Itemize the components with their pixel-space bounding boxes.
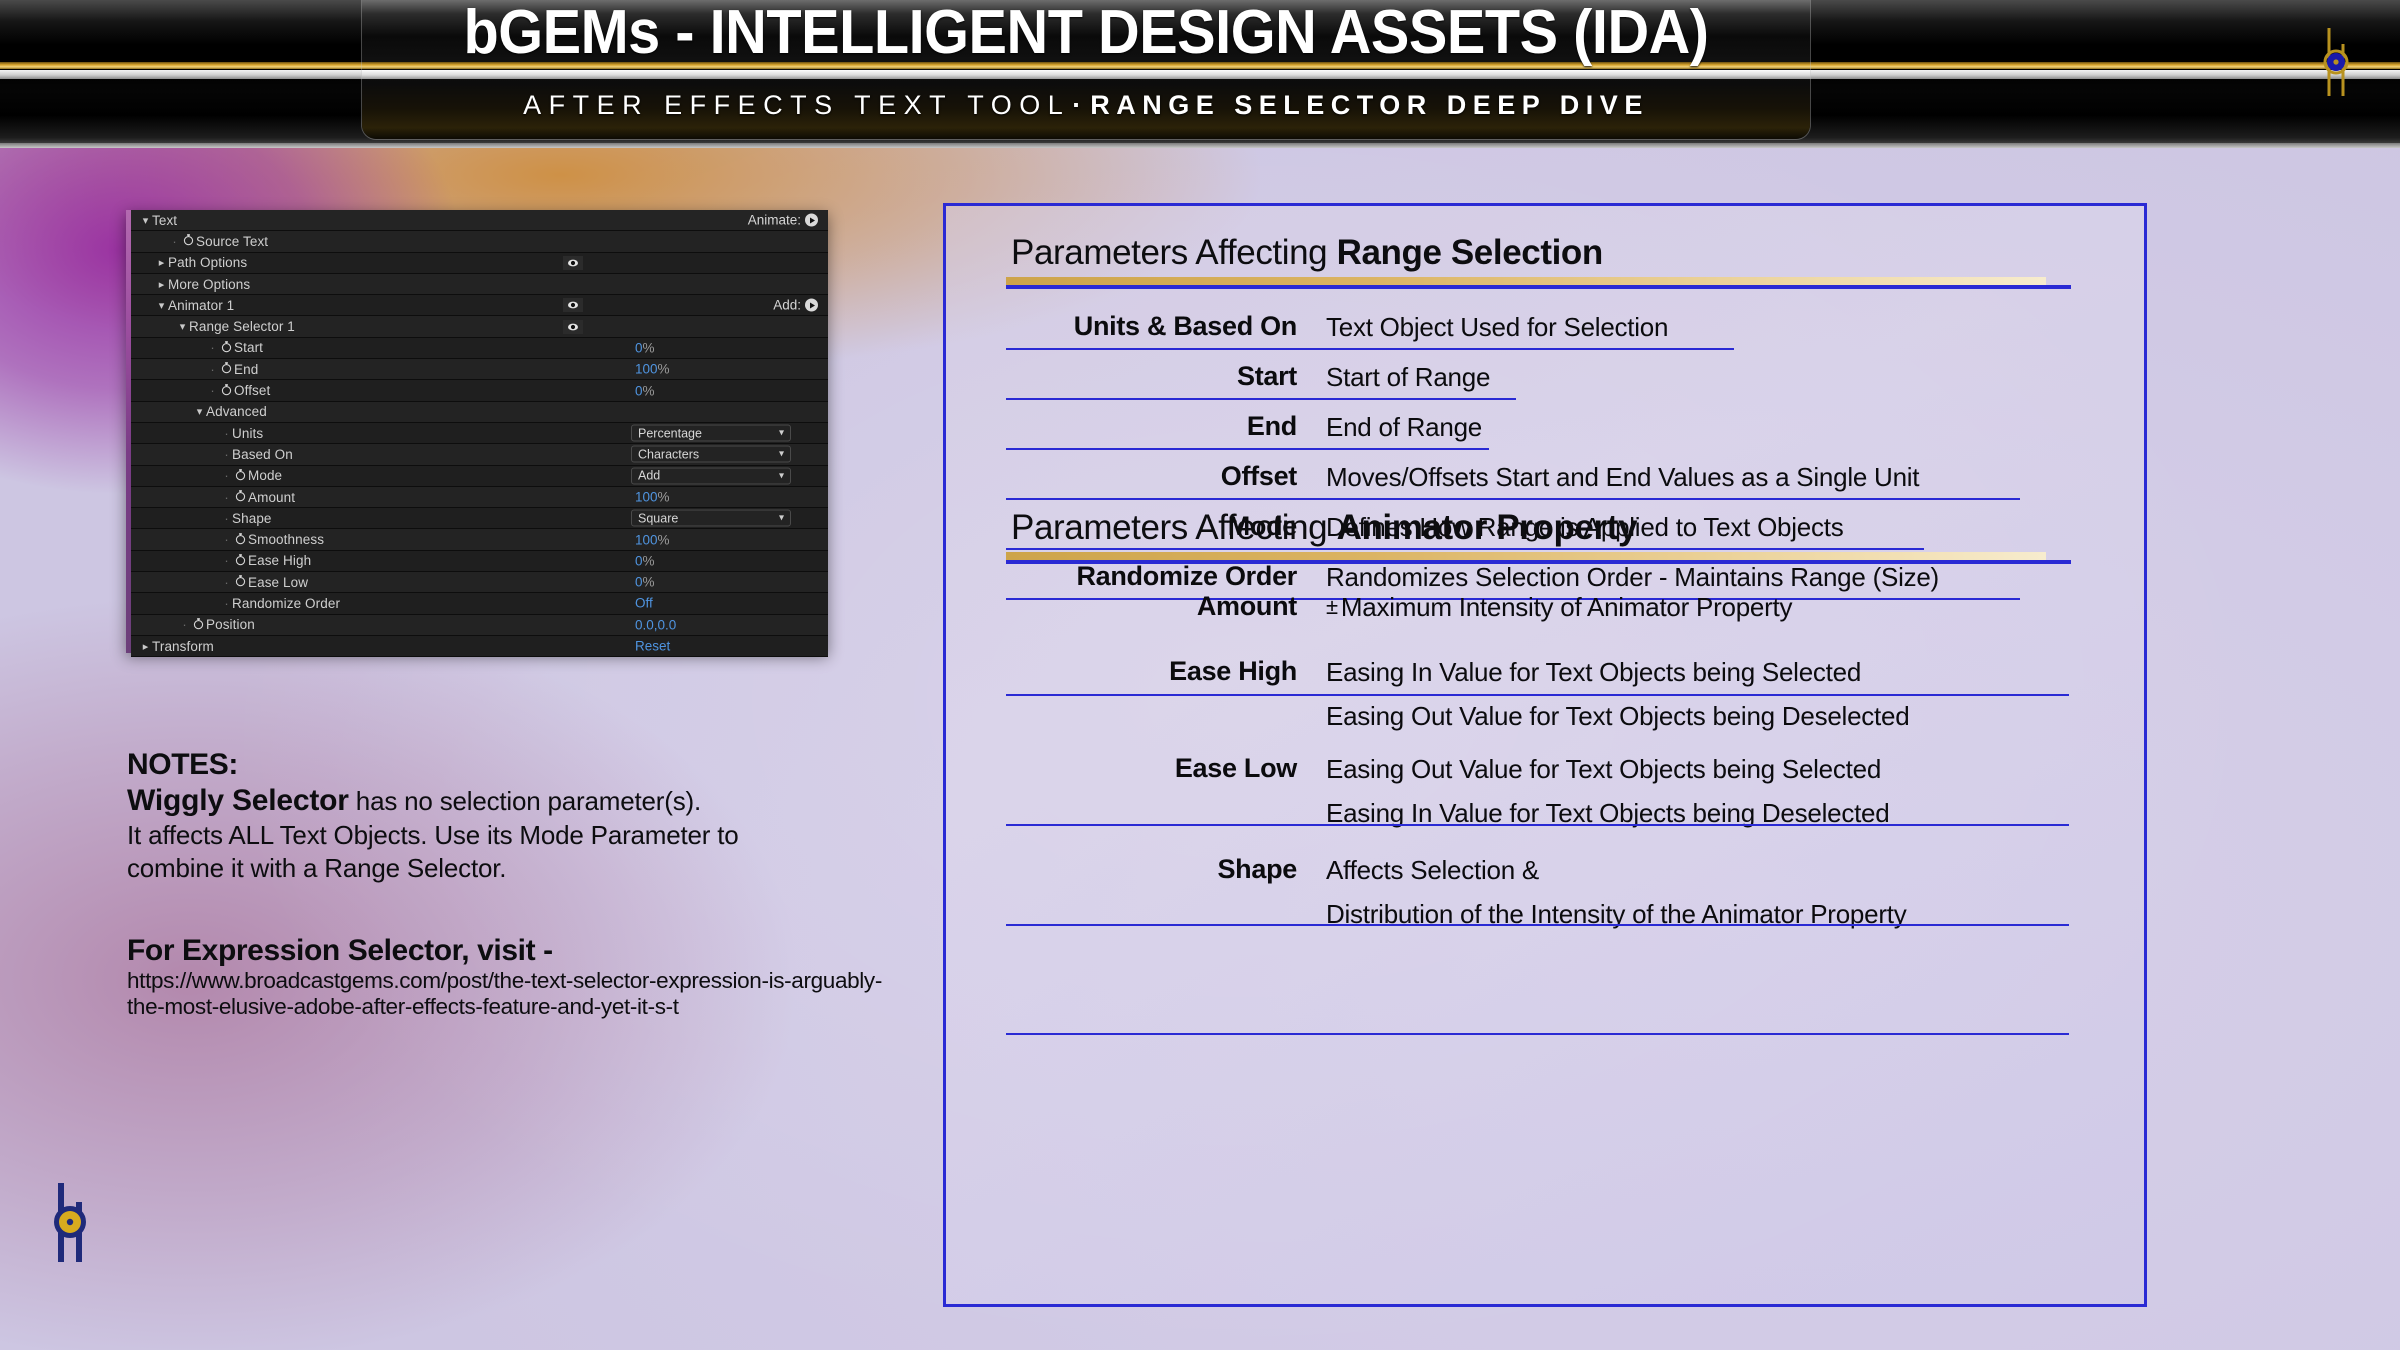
- row-bullet-icon: ·: [169, 234, 180, 249]
- row-underline: [1006, 348, 1734, 350]
- property-row-list: ▾TextAnimate:·Source Text▸Path Options▸M…: [131, 210, 828, 657]
- ae-property-label: Path Options: [168, 255, 247, 270]
- ae-dropdown-value: Add: [638, 469, 660, 483]
- ae-property-label: Advanced: [206, 404, 267, 419]
- row-underline: [1006, 1033, 2069, 1035]
- notes-url-link[interactable]: https://www.broadcastgems.com/post/the-t…: [127, 968, 887, 1021]
- ae-property-label: Mode: [248, 468, 282, 483]
- row-bullet-icon: ·: [221, 426, 232, 441]
- ae-property-row[interactable]: ·UnitsPercentage▾: [131, 423, 828, 444]
- ae-property-value[interactable]: Off: [635, 596, 653, 611]
- parameter-description: Easing Out Value for Text Objects being …: [1326, 753, 1889, 831]
- parameter-name: Ease High: [1006, 656, 1297, 687]
- header-bar: bGEMs - INTELLIGENT DESIGN ASSETS (IDA) …: [0, 0, 2400, 148]
- ae-property-row[interactable]: ▾Animator 1Add:: [131, 295, 828, 316]
- row-bullet-icon: ·: [221, 468, 232, 483]
- chevron-down-icon[interactable]: ▾: [779, 428, 784, 439]
- ae-property-label: Randomize Order: [232, 596, 340, 611]
- parameters-card: Parameters Affecting Range SelectionUnit…: [943, 203, 2147, 1307]
- parameter-name: Units & Based On: [1006, 311, 1297, 342]
- gold-rule: [1006, 277, 2046, 285]
- ae-property-label: Ease High: [248, 553, 311, 568]
- section-heading-normal: Parameters Affecting: [1011, 508, 1337, 547]
- chevron-down-icon[interactable]: ▾: [139, 214, 152, 227]
- ae-property-label: Amount: [248, 490, 295, 505]
- row-bullet-icon: ·: [221, 490, 232, 505]
- ae-dropdown[interactable]: Percentage▾: [631, 425, 791, 442]
- ae-property-value[interactable]: 0%: [635, 553, 655, 568]
- row-underline: [1006, 694, 2069, 696]
- row-bullet-icon: ·: [207, 383, 218, 398]
- chevron-down-icon[interactable]: ▾: [779, 470, 784, 481]
- gold-rule: [1006, 552, 2046, 560]
- ae-property-label: Transform: [152, 639, 214, 654]
- subtitle-primary: AFTER EFFECTS TEXT TOOL: [523, 90, 1070, 121]
- stopwatch-icon[interactable]: [234, 468, 247, 481]
- animate-label: Animate:: [748, 213, 801, 228]
- ae-property-row[interactable]: ·Randomize OrderOff: [131, 593, 828, 614]
- ae-dropdown-value: Characters: [638, 447, 699, 461]
- row-bullet-icon: ·: [221, 511, 232, 526]
- section-heading-normal: Parameters Affecting: [1011, 233, 1337, 272]
- plate-white-stripe: [362, 70, 1810, 79]
- notes-line-1: Wiggly Selector has no selection paramet…: [127, 782, 887, 820]
- parameter-name: Randomize Order: [1006, 561, 1297, 592]
- add-control[interactable]: Add:: [773, 298, 818, 313]
- notes-heading: NOTES:: [127, 748, 887, 782]
- stopwatch-icon[interactable]: [234, 574, 247, 587]
- chevron-down-icon[interactable]: ▾: [779, 449, 784, 460]
- ae-property-label: Position: [206, 617, 255, 632]
- section-heading-bold: Animator Property: [1337, 508, 1637, 547]
- ae-property-label: Text: [152, 213, 177, 228]
- ae-property-label: Start: [234, 340, 263, 355]
- chevron-down-icon[interactable]: ▾: [193, 405, 206, 418]
- notes-line-3: combine it with a Range Selector.: [127, 852, 887, 885]
- parameter-row: OffsetMoves/Offsets Start and End Values…: [1006, 461, 2069, 509]
- stopwatch-icon[interactable]: [220, 361, 233, 374]
- row-bullet-icon: ·: [221, 553, 232, 568]
- ae-property-row[interactable]: ▾TextAnimate:: [131, 210, 828, 231]
- stopwatch-icon[interactable]: [234, 553, 247, 566]
- parameter-row: EndEnd of Range: [1006, 411, 2069, 459]
- ae-property-value[interactable]: 0.0,0.0: [635, 617, 676, 632]
- parameter-name: Shape: [1006, 854, 1297, 885]
- row-bullet-icon: ·: [221, 532, 232, 547]
- ae-property-label: Source Text: [196, 234, 268, 249]
- parameter-name: Ease Low: [1006, 753, 1297, 784]
- stopwatch-icon[interactable]: [234, 532, 247, 545]
- ae-property-row[interactable]: ▸TransformReset: [131, 636, 828, 657]
- section-heading-2: Parameters Affecting Animator Property: [1011, 508, 1637, 548]
- section-rule-2: [1006, 552, 2071, 564]
- stopwatch-icon[interactable]: [220, 340, 233, 353]
- blue-rule: [1006, 560, 2071, 564]
- ae-property-value[interactable]: Reset: [635, 639, 670, 654]
- parameter-name: Amount: [1006, 591, 1297, 622]
- parameter-description-line: Easing Out Value for Text Objects being …: [1326, 753, 1889, 786]
- notes-block: NOTES: Wiggly Selector has no selection …: [127, 748, 887, 1021]
- stopwatch-icon[interactable]: [234, 489, 247, 502]
- parameter-description: Randomizes Selection Order - Maintains R…: [1326, 561, 1939, 594]
- row-underline: [1006, 924, 2069, 926]
- row-underline: [1006, 824, 2069, 826]
- parameter-description: End of Range: [1326, 411, 1482, 444]
- row-bullet-icon: ·: [221, 447, 232, 462]
- ae-property-row[interactable]: ▾Advanced: [131, 402, 828, 423]
- ae-property-label: Units: [232, 426, 263, 441]
- ae-property-row[interactable]: ·Ease High0%: [131, 551, 828, 572]
- ae-property-row[interactable]: ·Based OnCharacters▾: [131, 444, 828, 465]
- chevron-right-icon[interactable]: ▸: [139, 640, 152, 653]
- chevron-down-icon[interactable]: ▾: [176, 320, 189, 333]
- subtitle-secondary: RANGE SELECTOR DEEP DIVE: [1090, 90, 1649, 121]
- parameter-description: ±Maximum Intensity of Animator Property: [1326, 591, 1792, 624]
- chevron-right-icon[interactable]: ▸: [155, 278, 168, 291]
- ae-property-label: Based On: [232, 447, 293, 462]
- page-subtitle: AFTER EFFECTS TEXT TOOL · RANGE SELECTOR…: [362, 82, 1810, 128]
- parameter-name: Offset: [1006, 461, 1297, 492]
- row-bullet-icon: ·: [221, 596, 232, 611]
- row-underline: [1006, 398, 1516, 400]
- parameter-description: Start of Range: [1326, 361, 1490, 394]
- ae-dropdown-value: Square: [638, 511, 678, 525]
- parameter-name: Start: [1006, 361, 1297, 392]
- row-bullet-icon: ·: [221, 575, 232, 590]
- section-rule-1: [1006, 277, 2071, 289]
- ae-property-value[interactable]: 100%: [635, 490, 670, 505]
- ae-dropdown-value: Percentage: [638, 426, 702, 440]
- plus-minus-icon: ±: [1326, 594, 1341, 619]
- parameter-description-line: Affects Selection &: [1326, 854, 1906, 887]
- notes-line-2: It affects ALL Text Objects. Use its Mod…: [127, 819, 887, 852]
- ae-property-label: Shape: [232, 511, 272, 526]
- ae-property-row[interactable]: ▸Path Options: [131, 253, 828, 274]
- ae-property-row[interactable]: ·Source Text: [131, 231, 828, 252]
- animate-control[interactable]: Animate:: [748, 213, 818, 228]
- row-underline: [1006, 448, 1489, 450]
- parameter-name: End: [1006, 411, 1297, 442]
- subtitle-separator: ·: [1070, 90, 1090, 121]
- ae-property-row[interactable]: ·Start0%: [131, 338, 828, 359]
- parameter-description: Moves/Offsets Start and End Values as a …: [1326, 461, 1919, 494]
- visibility-eye-icon[interactable]: [563, 320, 583, 334]
- notes-line-1-emphasis: Wiggly Selector: [127, 784, 349, 817]
- parameter-description: Text Object Used for Selection: [1326, 311, 1668, 344]
- row-underline: [1006, 498, 2020, 500]
- chevron-down-icon[interactable]: ▾: [779, 513, 784, 524]
- play-arrow-icon[interactable]: [805, 214, 818, 227]
- parameter-description: Affects Selection &Distribution of the I…: [1326, 854, 1906, 932]
- visibility-eye-icon[interactable]: [563, 256, 583, 270]
- ae-property-row[interactable]: ▸More Options: [131, 274, 828, 295]
- ae-property-row[interactable]: ·Position0.0,0.0: [131, 615, 828, 636]
- section-heading-1: Parameters Affecting Range Selection: [1011, 233, 1603, 273]
- ae-property-label: Smoothness: [248, 532, 324, 547]
- ae-property-value[interactable]: 100%: [635, 532, 670, 547]
- ae-property-row[interactable]: ·End100%: [131, 359, 828, 380]
- ae-property-value[interactable]: 0%: [635, 575, 655, 590]
- parameter-description-line: Easing In Value for Text Objects being S…: [1326, 656, 1909, 689]
- ae-property-row[interactable]: ·Ease Low0%: [131, 572, 828, 593]
- stopwatch-icon[interactable]: [192, 617, 205, 630]
- after-effects-timeline-panel[interactable]: ▾TextAnimate:·Source Text▸Path Options▸M…: [126, 210, 828, 653]
- ae-dropdown[interactable]: Square▾: [631, 510, 791, 527]
- ae-property-label: Offset: [234, 383, 270, 398]
- bgems-logo-icon: [2318, 24, 2354, 100]
- row-underline: [1006, 548, 1924, 550]
- ae-property-row[interactable]: ·ShapeSquare▾: [131, 508, 828, 529]
- visibility-eye-icon[interactable]: [563, 298, 583, 312]
- title-plate: bGEMs - INTELLIGENT DESIGN ASSETS (IDA) …: [362, 0, 1810, 139]
- ae-dropdown[interactable]: Characters▾: [631, 446, 791, 463]
- page-title: bGEMs - INTELLIGENT DESIGN ASSETS (IDA): [413, 0, 1760, 70]
- chevron-down-icon[interactable]: ▾: [155, 299, 168, 312]
- parameter-description-line: Distribution of the Intensity of the Ani…: [1326, 898, 1906, 931]
- ae-property-label: Ease Low: [248, 575, 308, 590]
- parameter-row: Units & Based OnText Object Used for Sel…: [1006, 311, 2069, 359]
- ae-property-label: Range Selector 1: [189, 319, 295, 334]
- ae-property-label: Animator 1: [168, 298, 234, 313]
- blue-rule: [1006, 285, 2071, 289]
- ae-property-value[interactable]: 0%: [635, 383, 655, 398]
- section-heading-bold: Range Selection: [1337, 233, 1603, 272]
- parameter-description-line: Easing Out Value for Text Objects being …: [1326, 700, 1909, 733]
- row-bullet-icon: ·: [207, 362, 218, 377]
- header-bottom-edge: [0, 143, 2400, 148]
- ae-property-value[interactable]: 0%: [635, 340, 655, 355]
- row-bullet-icon: ·: [179, 617, 190, 632]
- ae-property-row[interactable]: ·Offset0%: [131, 380, 828, 401]
- ae-property-row[interactable]: ·Amount100%: [131, 487, 828, 508]
- ae-property-row[interactable]: ·Smoothness100%: [131, 529, 828, 550]
- ae-property-row[interactable]: ▾Range Selector 1: [131, 316, 828, 337]
- parameter-description-line: ±Maximum Intensity of Animator Property: [1326, 591, 1792, 624]
- ae-property-value[interactable]: 100%: [635, 362, 670, 377]
- ae-property-label: End: [234, 362, 258, 377]
- notes-spacer: [127, 884, 887, 934]
- ae-dropdown[interactable]: Add▾: [631, 467, 791, 484]
- ae-property-label: More Options: [168, 277, 250, 292]
- chevron-right-icon[interactable]: ▸: [155, 256, 168, 269]
- ae-property-row[interactable]: ·ModeAdd▾: [131, 466, 828, 487]
- parameter-row: StartStart of Range: [1006, 361, 2069, 409]
- add-label: Add:: [773, 298, 801, 313]
- bgems-logo-icon: [48, 1178, 92, 1266]
- stopwatch-icon[interactable]: [182, 233, 195, 246]
- row-bullet-icon: ·: [207, 340, 218, 355]
- notes-cta: For Expression Selector, visit -: [127, 934, 887, 968]
- stopwatch-icon[interactable]: [220, 383, 233, 396]
- play-arrow-icon[interactable]: [805, 299, 818, 312]
- notes-line-1-rest: has no selection parameter(s).: [349, 786, 701, 816]
